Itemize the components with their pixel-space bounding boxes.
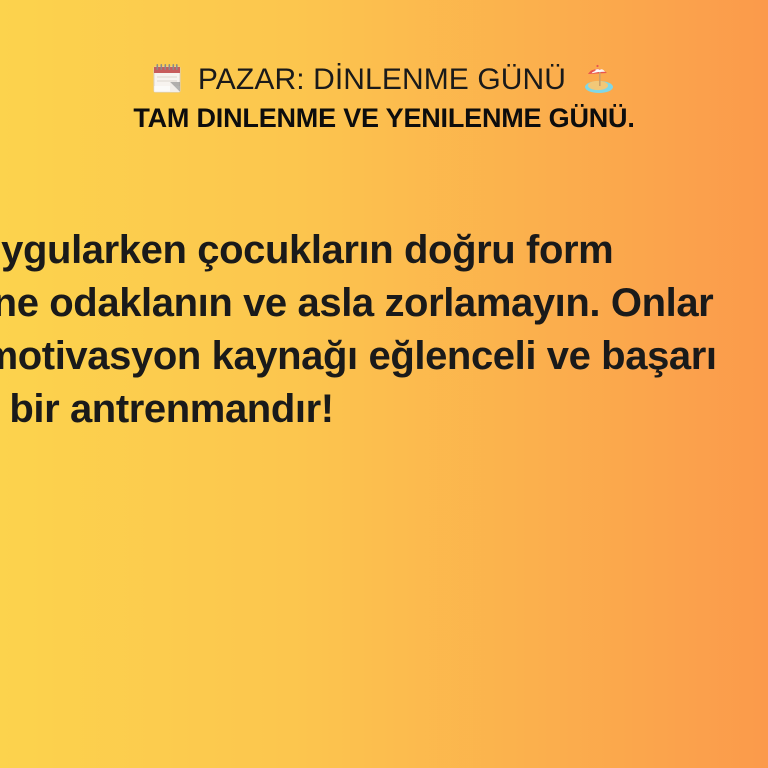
body-line-3: için en iyi motivasyon kaynağı eğlenceli… [0, 330, 768, 383]
header-block: PAZAR: DİNLENME GÜNÜ TAM DINLENME VE YEN… [0, 0, 768, 135]
page-title: PAZAR: DİNLENME GÜNÜ [0, 62, 768, 97]
spiral-notepad-icon [152, 62, 182, 94]
slide-root: PAZAR: DİNLENME GÜNÜ TAM DINLENME VE YEN… [0, 0, 768, 768]
body-line-4: hissi veren bir antrenmandır! [0, 383, 768, 436]
body-line-1: Programı uygularken çocukların doğru for… [0, 224, 768, 277]
page-title-text: PAZAR: DİNLENME GÜNÜ [198, 63, 566, 96]
body-line-2: öğrenmesine odaklanın ve asla zorlamayın… [0, 277, 768, 330]
page-subtitle: TAM DINLENME VE YENILENME GÜNÜ. [0, 103, 768, 135]
body-paragraph: Programı uygularken çocukların doğru for… [0, 224, 768, 436]
beach-with-umbrella-icon [582, 62, 616, 94]
